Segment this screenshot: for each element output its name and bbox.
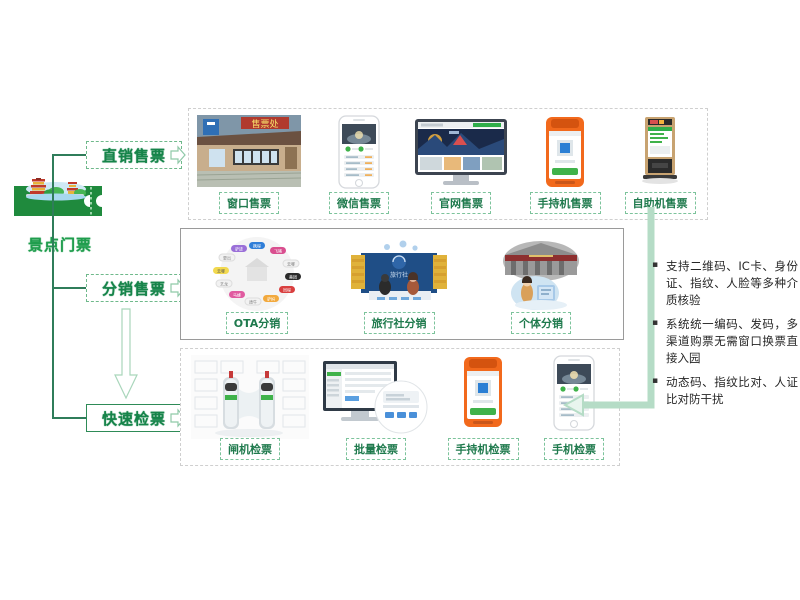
item-caption: OTA分销 (226, 312, 289, 334)
travel-agency-counter-photo: 旅行社 (347, 235, 451, 313)
panel-fast-check: 闸机检票 (180, 348, 620, 466)
self-service-kiosk-icon (637, 115, 683, 191)
bullet-item: 动态码、指纹比对、人证比对防干扰 (650, 374, 798, 408)
panel-direct-sales: 售票处 (188, 108, 708, 220)
diagram-canvas: 景点门票 直销售票 分销售票 快速检票 (0, 0, 800, 600)
bullet-item: 支持二维码、IC卡、身份证、指纹、人脸等多种介质核验 (650, 258, 798, 309)
item-caption: 微信售票 (329, 192, 389, 214)
item-caption: 手持机检票 (448, 438, 519, 460)
list-item[interactable]: 携程 飞猪 去哪 美团 同程 驴妈 途牛 马蜂 艺龙 去哪 要出 驴迹 (189, 229, 325, 339)
ota-circle-logos-icon: 携程 飞猪 去哪 美团 同程 驴妈 途牛 马蜂 艺龙 去哪 要出 驴迹 (207, 235, 307, 313)
tree-branch-line-check (52, 417, 88, 419)
svg-text:旅行社: 旅行社 (390, 271, 408, 279)
bullet-item: 系统统一编码、发码，多渠道购票无需窗口换票直接入园 (650, 316, 798, 367)
item-caption: 官网售票 (431, 192, 491, 214)
desktop-monitor-icon (413, 115, 509, 189)
ticket-window-photo: 售票处 (197, 115, 301, 187)
svg-text:驴妈: 驴妈 (267, 295, 275, 301)
svg-text:美团: 美团 (289, 273, 297, 279)
list-item[interactable]: 官网售票 (407, 109, 515, 219)
list-item[interactable]: 闸机检票 (187, 349, 313, 465)
chevron-right-icon (168, 145, 188, 165)
svg-text:马蜂: 马蜂 (233, 291, 241, 297)
page-title: 景点门票 (10, 234, 110, 255)
list-item[interactable]: 微信售票 (309, 109, 409, 219)
ticket-pagoda-icon (12, 178, 104, 224)
smartphone-wechat-icon (338, 115, 380, 189)
svg-text:携程: 携程 (253, 242, 261, 248)
handheld-pos-orange-icon (545, 115, 585, 189)
svg-text:要出: 要出 (223, 254, 231, 260)
svg-text:途牛: 途牛 (249, 298, 257, 304)
item-caption: 旅行社分销 (364, 312, 435, 334)
item-caption: 闸机检票 (220, 438, 280, 460)
item-caption: 批量检票 (346, 438, 406, 460)
down-arrow-icon (113, 308, 139, 400)
svg-text:驴迹: 驴迹 (235, 245, 243, 251)
list-item[interactable]: 手持机检票 (435, 349, 531, 465)
svg-text:飞猪: 飞猪 (274, 247, 282, 253)
turnstile-gate-photo (191, 355, 309, 439)
feature-bullet-list: 支持二维码、IC卡、身份证、指纹、人脸等多种介质核验 系统统一编码、发码，多渠道… (650, 258, 798, 415)
handheld-pos-orange-icon (463, 355, 503, 431)
tree-branch-line-direct (52, 154, 88, 156)
svg-text:同程: 同程 (283, 286, 291, 292)
svg-text:艺龙: 艺龙 (220, 280, 228, 286)
list-item[interactable]: 批量检票 (317, 349, 435, 465)
svg-text:售票处: 售票处 (251, 118, 278, 130)
list-item[interactable]: 自助机售票 (613, 109, 707, 219)
list-item[interactable]: 手持机售票 (515, 109, 615, 219)
tree-branch-line-distribution (52, 287, 88, 289)
svg-text:去哪: 去哪 (287, 260, 295, 266)
item-caption: 窗口售票 (219, 192, 279, 214)
item-caption: 手机检票 (544, 438, 604, 460)
svg-text:去哪: 去哪 (217, 267, 225, 273)
list-item[interactable]: 旅行社 (331, 229, 467, 339)
desktop-batch-check-icon (321, 355, 431, 435)
list-item[interactable]: 售票处 (193, 109, 305, 219)
